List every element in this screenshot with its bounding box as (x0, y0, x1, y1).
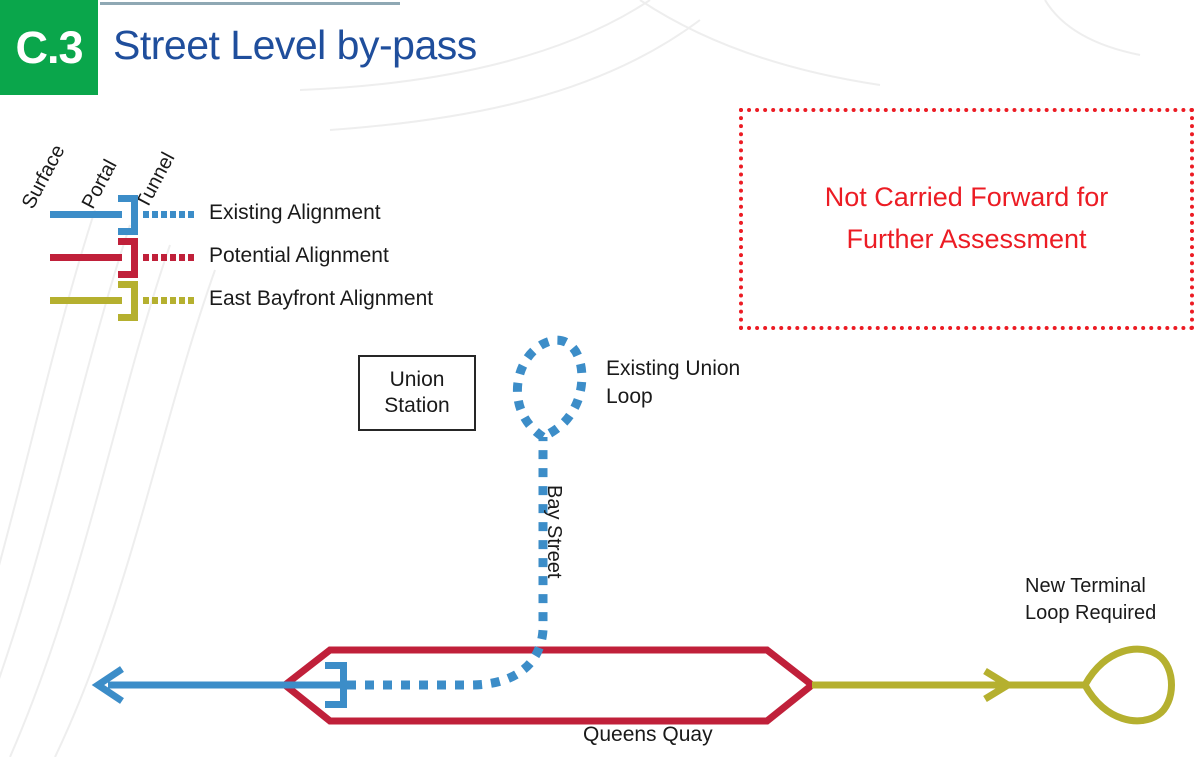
existing-alignment-west-arrowhead (98, 669, 122, 701)
existing-alignment-tunnel-dotted (347, 437, 543, 685)
legend: Surface Portal Tunnel Existing Alignment (0, 100, 500, 325)
new-terminal-loop (1085, 649, 1172, 721)
not-carried-forward-callout: Not Carried Forward for Further Assessme… (739, 108, 1194, 330)
section-badge: C.3 (0, 0, 98, 95)
east-bayfront-arrowhead (985, 671, 1008, 699)
legend-tunnel-dots-existing (143, 211, 201, 218)
union-station-box: Union Station (358, 355, 476, 431)
potential-alignment-corridor (285, 650, 812, 721)
header-rule (100, 2, 400, 5)
page-title: Street Level by-pass (113, 22, 477, 69)
legend-row-potential[interactable]: Potential Alignment (0, 238, 500, 282)
legend-label-east-bayfront: East Bayfront Alignment (209, 287, 433, 311)
legend-surface-line-east-bayfront (50, 297, 122, 304)
legend-portal-bracket-east-bayfront (118, 281, 138, 321)
bay-street-label: Bay Street (542, 485, 565, 578)
existing-union-loop-label: Existing Union Loop (606, 355, 740, 410)
new-terminal-loop-label: New Terminal Loop Required (1025, 573, 1156, 627)
warning-line-1: Not Carried Forward for (825, 177, 1109, 219)
existing-union-loop (517, 340, 581, 437)
legend-label-potential: Potential Alignment (209, 244, 389, 268)
union-station-line-1: Union (390, 367, 445, 393)
warning-text: Not Carried Forward for Further Assessme… (825, 177, 1109, 261)
new-terminal-loop-line-2: Loop Required (1025, 600, 1156, 627)
existing-union-loop-line-1: Existing Union (606, 355, 740, 383)
legend-tunnel-dots-potential (143, 254, 201, 261)
union-station-line-2: Station (384, 393, 449, 419)
slide-canvas: C.3 Street Level by-pass Surface Portal … (0, 0, 1202, 757)
legend-row-east-bayfront[interactable]: East Bayfront Alignment (0, 281, 500, 325)
legend-row-existing[interactable]: Existing Alignment (0, 195, 500, 239)
legend-surface-line-existing (50, 211, 122, 218)
existing-union-loop-line-2: Loop (606, 383, 740, 411)
legend-portal-bracket-potential (118, 238, 138, 278)
legend-portal-bracket-existing (118, 195, 138, 235)
new-terminal-loop-line-1: New Terminal (1025, 573, 1156, 600)
legend-surface-line-potential (50, 254, 122, 261)
legend-tunnel-dots-east-bayfront (143, 297, 201, 304)
legend-label-existing: Existing Alignment (209, 201, 381, 225)
warning-line-2: Further Assessment (825, 219, 1109, 261)
existing-alignment-portal-bracket (325, 662, 347, 708)
queens-quay-label: Queens Quay (583, 723, 713, 747)
